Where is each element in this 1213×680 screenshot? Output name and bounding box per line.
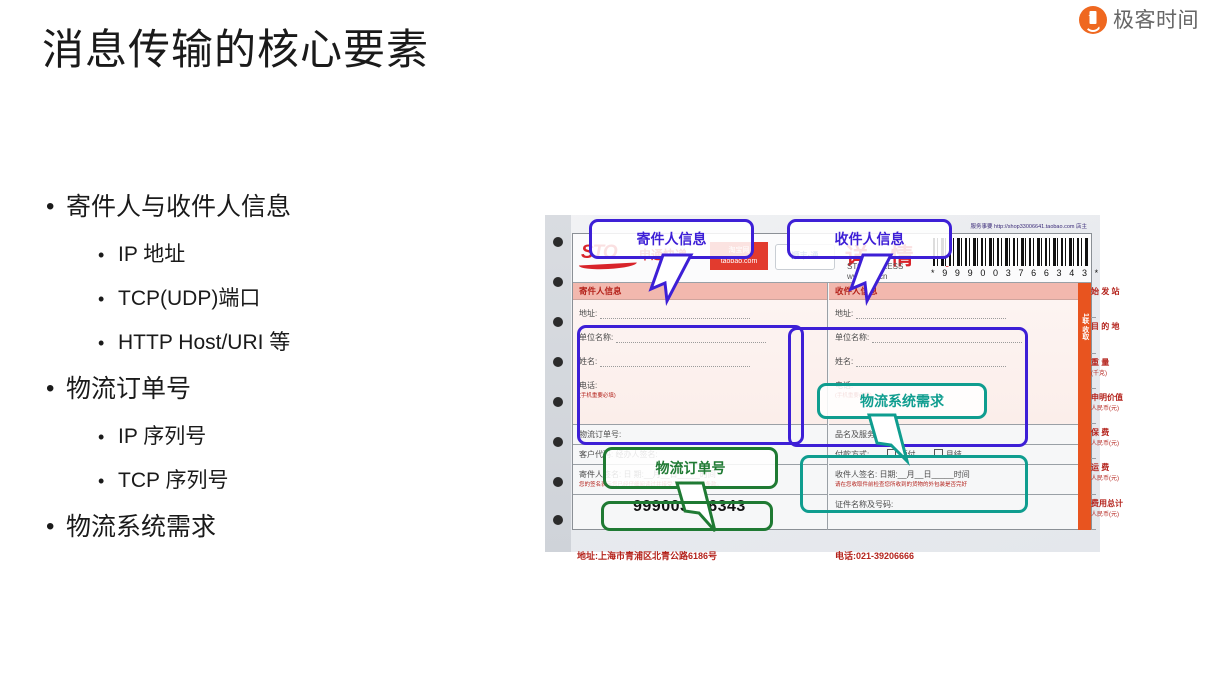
orange-side-strip: 1联 收取 bbox=[1078, 283, 1091, 530]
dotted-line bbox=[600, 310, 750, 319]
receiver-address-field: 地址: bbox=[835, 308, 1078, 319]
footer-phone: 电话:021-39206666 bbox=[835, 549, 914, 562]
waybill-photo: 服务事要 http://shop33006641.taobao.com 店主 S… bbox=[545, 215, 1100, 552]
outline-subitem-1-0: • IP 序列号 bbox=[98, 424, 516, 450]
annotation-order-label: 物流订单号 bbox=[656, 458, 726, 478]
sender-heading: 寄件人信息 bbox=[573, 283, 827, 300]
geekbang-circle-icon bbox=[1079, 6, 1107, 34]
outline-group-1: • 物流订单号 • IP 序列号 • TCP 序列号 bbox=[46, 374, 516, 494]
annotation-system-region bbox=[800, 455, 1028, 513]
bullet-dot-icon: • bbox=[46, 192, 66, 222]
outline-list: • 寄件人与收件人信息 • IP 地址 • TCP(UDP)端口 • HTTP … bbox=[46, 192, 516, 562]
perforation-strip bbox=[545, 215, 571, 552]
annotation-sender-label: 寄件人信息 bbox=[637, 229, 707, 249]
barcode-icon bbox=[933, 238, 1088, 266]
outline-subitem-1-1: • TCP 序列号 bbox=[98, 468, 516, 494]
page-title: 消息传输的核心要素 bbox=[42, 26, 429, 74]
footer-address: 地址:上海市青浦区北青公路6186号 bbox=[577, 549, 717, 562]
outline-group-2: • 物流系统需求 bbox=[46, 512, 516, 542]
company-en-and-site: STO EXPRESS www.sto.cn bbox=[847, 262, 903, 282]
photo-canvas: 服务事要 http://shop33006641.taobao.com 店主 S… bbox=[545, 215, 1100, 552]
outline-sublabel: TCP(UDP)端口 bbox=[118, 286, 260, 312]
outline-item-2: • 物流系统需求 bbox=[46, 512, 516, 542]
brand-name: 极客时间 bbox=[1113, 10, 1199, 31]
outline-label: 寄件人与收件人信息 bbox=[66, 192, 291, 222]
annotation-receiver-callout: 收件人信息 bbox=[787, 219, 952, 259]
vertical-strip-label: 1联 收取 bbox=[1080, 313, 1090, 340]
shop-url-text: 服务事要 http://shop33006641.taobao.com 店主 bbox=[971, 222, 1087, 230]
bullet-dot-icon: • bbox=[46, 512, 66, 542]
outline-item-1: • 物流订单号 bbox=[46, 374, 516, 404]
outline-subitem-0-0: • IP 地址 bbox=[98, 242, 516, 268]
sender-address-field: 地址: bbox=[579, 308, 821, 319]
annotation-system-callout: 物流系统需求 bbox=[817, 383, 987, 419]
outline-label: 物流订单号 bbox=[66, 374, 191, 404]
bullet-dot-icon: • bbox=[98, 242, 118, 268]
bullet-dot-icon: • bbox=[98, 424, 118, 450]
bullet-dot-icon: • bbox=[98, 286, 118, 312]
field-label: 地址: bbox=[579, 309, 597, 318]
annotation-order-callout: 物流订单号 bbox=[603, 447, 778, 489]
company-website: www.sto.cn bbox=[847, 272, 903, 282]
outline-sublabel: IP 序列号 bbox=[118, 424, 206, 450]
annotation-order-number-region bbox=[601, 501, 773, 531]
annotation-sender-callout: 寄件人信息 bbox=[589, 219, 754, 259]
bullet-dot-icon: • bbox=[98, 330, 118, 356]
outline-subitem-0-1: • TCP(UDP)端口 bbox=[98, 286, 516, 312]
outline-group-0: • 寄件人与收件人信息 • IP 地址 • TCP(UDP)端口 • HTTP … bbox=[46, 192, 516, 356]
outline-subitem-0-2: • HTTP Host/URI 等 bbox=[98, 330, 516, 356]
annotation-system-label: 物流系统需求 bbox=[860, 391, 944, 411]
outline-item-0: • 寄件人与收件人信息 bbox=[46, 192, 516, 222]
receiver-heading: 收件人信息 bbox=[829, 283, 1084, 300]
annotation-sender-region bbox=[577, 325, 804, 445]
dotted-line bbox=[856, 310, 1006, 319]
bullet-dot-icon: • bbox=[98, 468, 118, 494]
bullet-dot-icon: • bbox=[46, 374, 66, 404]
outline-sublabel: TCP 序列号 bbox=[118, 468, 228, 494]
company-en: STO EXPRESS bbox=[847, 262, 903, 272]
outline-label: 物流系统需求 bbox=[66, 512, 216, 542]
outline-sublabel: HTTP Host/URI 等 bbox=[118, 330, 290, 356]
slide-root: 极客时间 消息传输的核心要素 • 寄件人与收件人信息 • IP 地址 • TCP… bbox=[0, 0, 1213, 680]
barcode-number: * 9 9 9 0 0 3 7 6 6 3 4 3 * bbox=[931, 268, 1091, 278]
brand-logo: 极客时间 bbox=[1079, 6, 1199, 34]
field-label: 地址: bbox=[835, 309, 853, 318]
outline-sublabel: IP 地址 bbox=[118, 242, 185, 268]
logo-arc bbox=[1085, 23, 1102, 32]
annotation-receiver-label: 收件人信息 bbox=[835, 229, 905, 249]
